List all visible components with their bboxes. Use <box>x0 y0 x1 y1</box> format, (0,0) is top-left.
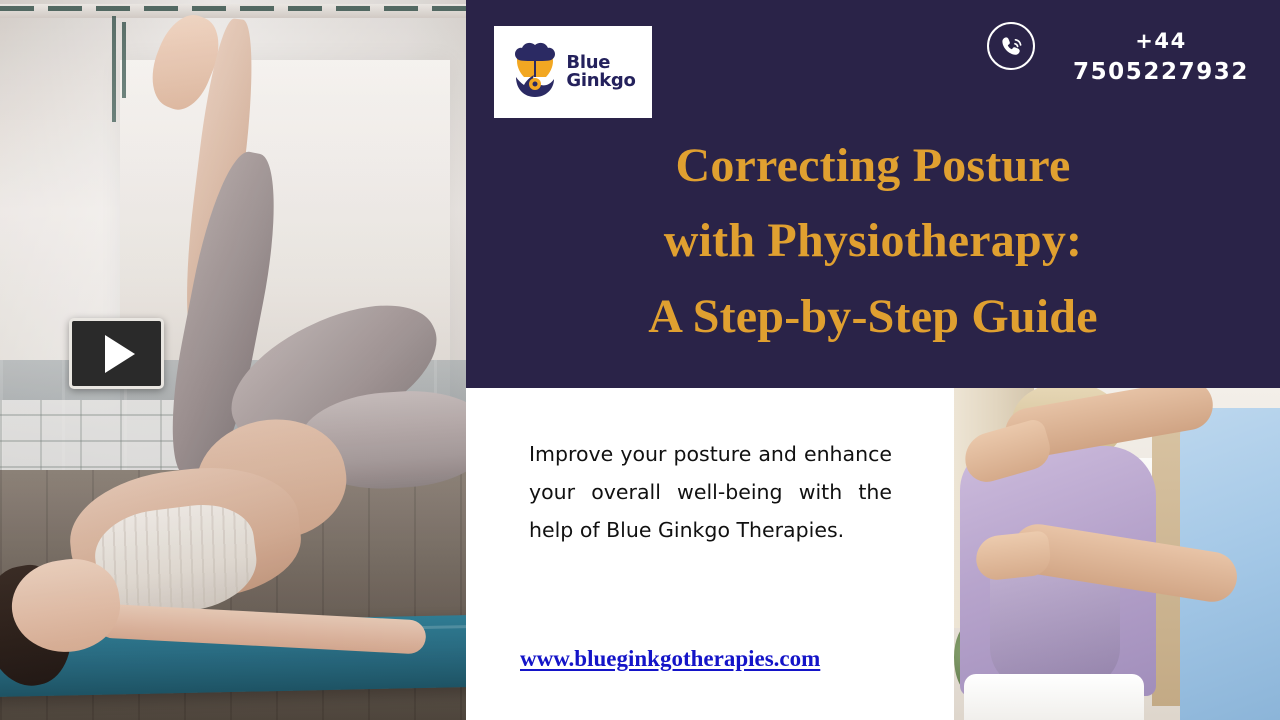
page-title: Correcting Posture with Physiotherapy: A… <box>506 128 1240 354</box>
phone-call-button[interactable] <box>986 21 1036 71</box>
page-title-line-2: with Physiotherapy: <box>506 203 1240 278</box>
phone-country-code: +44 <box>1066 26 1256 56</box>
studio-ceiling-rail <box>0 4 466 18</box>
play-button[interactable] <box>69 318 164 389</box>
content-area: Improve your posture and enhance your ov… <box>466 388 954 720</box>
right-photo-image <box>954 388 1280 720</box>
left-hero-image <box>0 0 466 720</box>
play-icon <box>105 335 135 373</box>
brand-logo-wordmark: Blue Ginkgo <box>566 54 635 91</box>
phone-number-digits: 7505227932 <box>1066 56 1256 89</box>
poster-canvas: Blue Ginkgo +44 7505227932 Correcting Po… <box>0 0 1280 720</box>
page-title-line-3: A Step-by-Step Guide <box>506 279 1240 354</box>
studio-barre-left <box>112 16 116 122</box>
ginkgo-leaf-logo-icon <box>510 41 560 103</box>
page-title-line-1: Correcting Posture <box>506 128 1240 203</box>
body-paragraph: Improve your posture and enhance your ov… <box>529 436 892 550</box>
website-link[interactable]: www.blueginkgotherapies.com <box>520 646 820 672</box>
phone-number-block[interactable]: +44 7505227932 <box>1066 26 1256 90</box>
brand-logo[interactable]: Blue Ginkgo <box>494 26 652 118</box>
patient-white-trousers <box>964 674 1144 720</box>
brand-name-line2: Ginkgo <box>566 72 635 90</box>
phone-call-icon <box>986 21 1036 71</box>
header-panel: Blue Ginkgo +44 7505227932 Correcting Po… <box>466 0 1280 388</box>
studio-barre-left-2 <box>122 22 126 98</box>
